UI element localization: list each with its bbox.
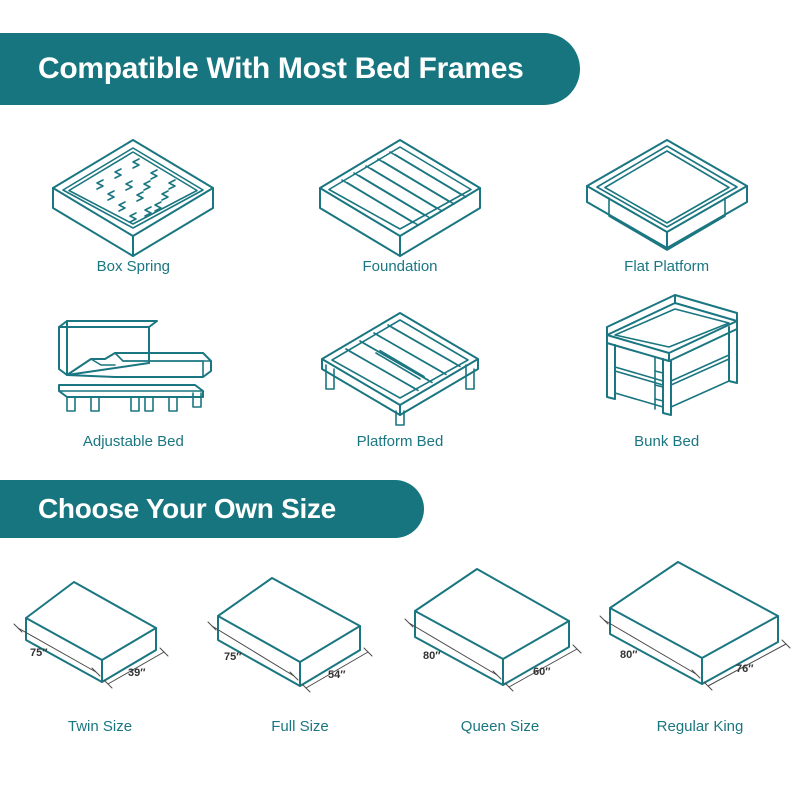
twin-width-value: 39″ (128, 667, 146, 679)
foundation-icon (312, 132, 488, 252)
full-width-value: 54″ (328, 669, 346, 681)
size-label-queen: Queen Size (461, 718, 539, 735)
twin-length-value: 75″ (30, 647, 48, 659)
size-item-full[interactable]: 75″ 54″ Full Size (200, 560, 400, 735)
frame-label-bunk-bed: Bunk Bed (634, 433, 699, 450)
size-item-queen[interactable]: 80″ 60″ Queen Size (400, 560, 600, 735)
banner-choose-size: Choose Your Own Size (0, 480, 424, 538)
size-label-regular-king: Regular King (657, 718, 744, 735)
frame-label-platform-bed: Platform Bed (357, 433, 444, 450)
frame-label-flat-platform: Flat Platform (624, 258, 709, 275)
full-mattress-icon: 75″ 54″ (210, 564, 390, 714)
size-item-twin[interactable]: 75″ 39″ Twin Size (0, 560, 200, 735)
size-label-full: Full Size (271, 718, 329, 735)
frame-item-adjustable-bed[interactable]: Adjustable Bed (0, 305, 267, 450)
flat-platform-icon (579, 132, 755, 252)
frame-label-box-spring: Box Spring (97, 258, 170, 275)
queen-mattress-icon: 80″ 60″ (407, 559, 593, 714)
frames-row-1: Box Spring (0, 130, 800, 275)
full-length-value: 75″ (224, 651, 242, 663)
banner-sizes-title: Choose Your Own Size (38, 493, 336, 525)
banner-compatible-frames: Compatible With Most Bed Frames (0, 33, 580, 105)
frame-item-box-spring[interactable]: Box Spring (0, 130, 267, 275)
platform-bed-icon (312, 307, 488, 427)
bunk-bed-icon (579, 297, 755, 427)
queen-width-value: 60″ (533, 666, 551, 678)
frame-item-platform-bed[interactable]: Platform Bed (267, 305, 534, 450)
size-label-twin: Twin Size (68, 718, 132, 735)
king-mattress-icon: 80″ 76″ (602, 554, 798, 714)
banner-frames-title: Compatible With Most Bed Frames (38, 52, 523, 86)
size-item-regular-king[interactable]: 80″ 76″ Regular King (600, 560, 800, 735)
box-spring-icon (45, 132, 221, 252)
queen-length-value: 80″ (423, 650, 441, 662)
frame-label-foundation: Foundation (362, 258, 437, 275)
frame-item-bunk-bed[interactable]: Bunk Bed (533, 305, 800, 450)
adjustable-bed-icon (45, 307, 221, 427)
frames-row-2: Adjustable Bed (0, 305, 800, 450)
frame-label-adjustable-bed: Adjustable Bed (83, 433, 184, 450)
sizes-row: 75″ 39″ Twin Size 75″ 5 (0, 560, 800, 735)
twin-mattress-icon: 75″ 39″ (10, 564, 190, 714)
infographic-page: Compatible With Most Bed Frames (0, 0, 800, 800)
frame-item-flat-platform[interactable]: Flat Platform (533, 130, 800, 275)
frame-item-foundation[interactable]: Foundation (267, 130, 534, 275)
king-width-value: 76″ (736, 663, 754, 675)
king-length-value: 80″ (620, 649, 638, 661)
